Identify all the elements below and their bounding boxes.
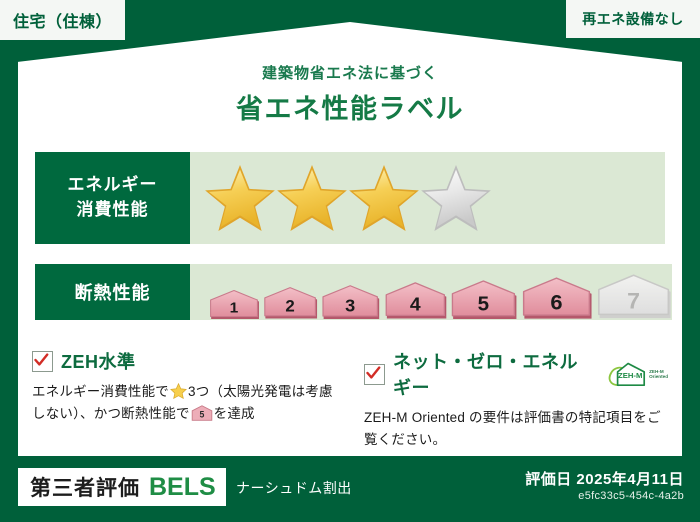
zeh-standard-checkbox[interactable] [32, 351, 53, 372]
insulation-performance-panel: 1234567 [190, 264, 672, 320]
page-title: 省エネ性能ラベル [0, 87, 700, 126]
renewable-energy-badge-label: 再エネ設備なし [582, 9, 684, 29]
house-grade-number: 3 [345, 296, 355, 316]
title-block: 建築物省エネ法に基づく 省エネ性能ラベル [0, 62, 700, 126]
insulation-performance-label-text: 断熱性能 [75, 279, 151, 305]
house-grade-number: 4 [409, 295, 420, 316]
house-grade-scale: 1234567 [190, 264, 672, 320]
bels-plate: 第三者評価 BELS [18, 468, 226, 506]
criterion-nze-title: ネット・ゼロ・エネルギー [393, 348, 593, 400]
criterion-net-zero-energy: ネット・ゼロ・エネルギー ZEH-M ZEH-M Oriented ZEH-M … [350, 348, 682, 448]
insulation-performance-label: 断熱性能 [35, 264, 190, 320]
house-icon-filled: 5 [449, 279, 518, 320]
house-icon: 5 [191, 405, 213, 421]
building-type-badge-label: 住宅（住棟） [13, 8, 112, 32]
energy-performance-label-line1: エネルギー [68, 173, 158, 198]
energy-performance-label: エネルギー 消費性能 [35, 152, 190, 244]
insulation-performance-row: 断熱性能 1234567 [35, 264, 665, 320]
zeh-m-caption-line2: Oriented [649, 374, 668, 379]
house-icon-filled: 1 [208, 289, 260, 320]
criterion-nze-body: ZEH-M Oriented の要件は評価書の特記項目をご覧ください。 [364, 407, 668, 451]
svg-text:5: 5 [199, 409, 204, 419]
evaluation-date-label: 評価日 [525, 471, 572, 488]
criterion-zeh-text-3: を達成 [214, 406, 255, 421]
bels-logo-text: BELS [149, 473, 216, 502]
criterion-zeh-text-1: エネルギー消費性能で [32, 384, 169, 399]
house-grade-number: 5 [478, 293, 489, 315]
house-grade-number: 1 [230, 300, 239, 317]
building-type-badge: 住宅（住棟） [0, 0, 125, 40]
house-icon-filled: 6 [520, 276, 593, 320]
star-icon-filled [274, 162, 350, 234]
house-icon-empty: 7 [595, 273, 672, 320]
star-rating [190, 162, 490, 234]
energy-performance-panel [190, 152, 665, 244]
criteria-section: ZEH水準 エネルギー消費性能で3つ（太陽光発電は考慮しない）、かつ断熱性能で5… [18, 348, 682, 448]
criterion-nze-header: ネット・ゼロ・エネルギー ZEH-M ZEH-M Oriented [364, 348, 668, 400]
zeh-m-logo-caption: ZEH-M Oriented [649, 369, 668, 380]
check-icon [34, 353, 49, 368]
renewable-energy-badge: 再エネ設備なし [566, 0, 700, 38]
net-zero-energy-checkbox[interactable] [364, 364, 385, 385]
bels-energy-label: 住宅（住棟） 再エネ設備なし 建築物省エネ法に基づく 省エネ性能ラベル エネルギ… [0, 0, 700, 522]
house-grade-number: 2 [285, 297, 294, 316]
evaluation-id: e5fc33c5-454c-4a2b [578, 490, 684, 502]
evaluation-date-value: 2025年4月11日 [576, 471, 684, 488]
evaluation-date: 評価日 2025年4月11日 [525, 468, 684, 489]
energy-performance-row: エネルギー 消費性能 [35, 152, 665, 244]
zeh-m-caption-line1: ZEH-M [649, 369, 664, 374]
criterion-zeh-header: ZEH水準 [32, 348, 336, 374]
star-icon-filled [346, 162, 422, 234]
star-icon [170, 383, 187, 399]
criterion-zeh-body: エネルギー消費性能で3つ（太陽光発電は考慮しない）、かつ断熱性能で5を達成 [32, 381, 336, 425]
house-icon-filled: 2 [262, 286, 318, 320]
star-icon-empty [418, 162, 494, 234]
footer-bar: 第三者評価 BELS ナーシュドム割出 評価日 2025年4月11日 e5fc3… [0, 456, 700, 522]
energy-performance-label-line2: 消費性能 [77, 198, 149, 223]
check-icon [366, 366, 381, 381]
criterion-zeh-standard: ZEH水準 エネルギー消費性能で3つ（太陽光発電は考慮しない）、かつ断熱性能で5… [18, 348, 350, 448]
house-icon-filled: 4 [383, 281, 448, 320]
title-subtitle: 建築物省エネ法に基づく [0, 62, 700, 83]
bels-japanese-label: 第三者評価 [30, 472, 140, 502]
star-icon-filled [202, 162, 278, 234]
organization-name: ナーシュドム割出 [236, 478, 352, 498]
house-icon-filled: 3 [320, 284, 380, 320]
house-grade-number: 7 [627, 288, 640, 314]
zeh-m-logo: ZEH-M ZEH-M Oriented [605, 360, 668, 388]
zeh-m-house-icon: ZEH-M [605, 360, 647, 388]
criterion-zeh-title: ZEH水準 [61, 348, 136, 374]
svg-text:ZEH-M: ZEH-M [618, 371, 642, 380]
house-grade-number: 6 [550, 290, 562, 315]
